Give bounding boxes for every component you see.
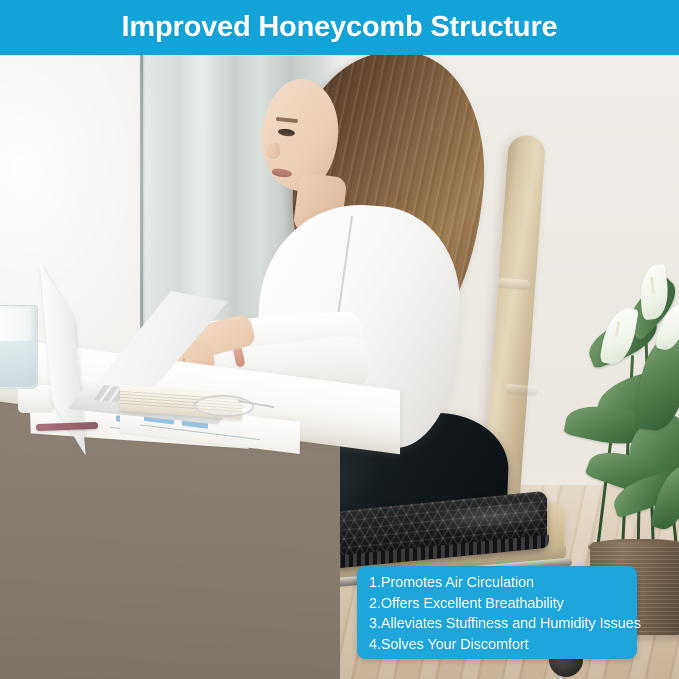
- benefits-list: 1.Promotes Air Circulation 2.Offers Exce…: [357, 573, 637, 655]
- product-infographic: Improved Honeycomb Structure: [0, 0, 679, 679]
- list-item: 1.Promotes Air Circulation: [369, 573, 627, 594]
- benefits-callout-box: 1.Promotes Air Circulation 2.Offers Exce…: [357, 566, 637, 659]
- header-banner: Improved Honeycomb Structure: [0, 0, 679, 55]
- list-item: 2.Offers Excellent Breathability: [369, 594, 627, 615]
- desk-cup: [18, 385, 54, 413]
- list-item: 4.Solves Your Discomfort: [369, 635, 627, 656]
- list-item: 3.Alleviates Stuffiness and Humidity Iss…: [369, 614, 627, 635]
- page-title: Improved Honeycomb Structure: [0, 0, 679, 55]
- glass-water: [0, 341, 36, 387]
